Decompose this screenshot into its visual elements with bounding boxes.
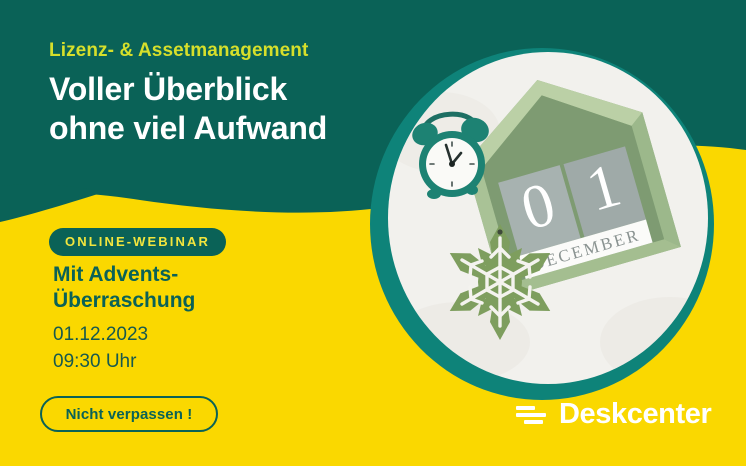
subhead-line-2: Überraschung: [53, 288, 195, 314]
hero-photo: 0 1 DECEMBER: [370, 42, 730, 408]
subhead-line-1: Mit Advents-: [53, 263, 178, 286]
event-date: 01.12.2023: [53, 324, 148, 345]
headline-line-1: Voller Überblick: [49, 71, 287, 107]
event-time: 09:30 Uhr: [53, 349, 148, 376]
snowflake-hang-hole: [497, 229, 502, 234]
cta-button[interactable]: Nicht verpassen !: [40, 396, 218, 432]
brand-logo: Deskcenter: [516, 398, 711, 431]
webinar-promo-banner: 0 1 DECEMBER: [0, 0, 746, 466]
clock-center-pin: [449, 161, 455, 167]
event-meta: 01.12.2023 09:30 Uhr: [53, 322, 148, 376]
status-badge: ONLINE-WEBINAR: [49, 228, 226, 256]
eyebrow-text: Lizenz- & Assetmanagement: [49, 40, 308, 62]
page-title: Voller Überblick ohne viel Aufwand: [49, 70, 327, 148]
brand-name: Deskcenter: [559, 398, 711, 431]
promo-subhead: Mit Advents- Überraschung: [53, 262, 195, 315]
deskcenter-bars-icon: [516, 402, 546, 428]
hero-photo-svg: 0 1 DECEMBER: [370, 42, 730, 408]
headline-line-2: ohne viel Aufwand: [49, 109, 327, 148]
